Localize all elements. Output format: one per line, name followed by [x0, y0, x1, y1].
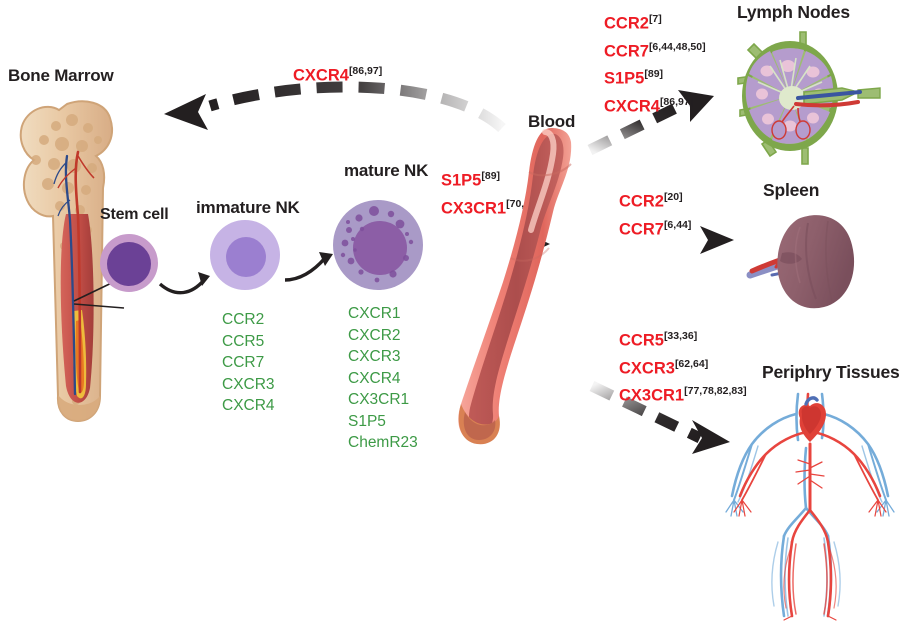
receptor-line: S1P5[89]: [604, 63, 706, 91]
receptor-line: CXCR4[86,97]: [293, 60, 382, 88]
receptor-line: CCR2[20]: [619, 186, 691, 214]
receptor-line: CCR5[33,36]: [619, 325, 747, 353]
label-spleen: Spleen: [763, 180, 819, 201]
receptor-line: CCR7[6,44,48,50]: [604, 36, 706, 64]
receptor-line: CCR2[7]: [604, 8, 706, 36]
receptor-item: CCR2: [222, 309, 275, 331]
receptor-item: CX3CR1: [348, 389, 418, 411]
receptor-refs: [33,36]: [664, 330, 697, 342]
label-periphery-tissues: Periphry Tissues: [762, 362, 900, 383]
stem-cell-illustration: [98, 232, 160, 294]
receptor-item: CXCR1: [348, 303, 418, 325]
receptor-line: CCR7[6,44]: [619, 214, 691, 242]
lymph-node-illustration: [718, 26, 903, 176]
receptor-name: CXCR3: [619, 359, 675, 377]
receptor-item: CCR5: [222, 331, 275, 353]
receptor-item: CXCR4: [222, 395, 275, 417]
label-stem-cell: Stem cell: [100, 206, 168, 224]
label-immature-nk: immature NK: [196, 198, 300, 218]
receptor-refs: [7]: [649, 13, 662, 25]
label-lymph-nodes: Lymph Nodes: [737, 2, 850, 23]
receptor-name: CCR2: [604, 15, 649, 33]
receptor-name: CXCR4: [293, 67, 349, 85]
receptor-list-mature-nk: CXCR1 CXCR2 CXCR3 CXCR4 CX3CR1 S1P5 Chem…: [348, 303, 418, 454]
receptor-name: CX3CR1: [619, 387, 684, 405]
receptor-line: CXCR4[86,97]: [604, 91, 706, 119]
receptor-refs: [62,64]: [675, 358, 708, 370]
mature-nk-illustration: [331, 198, 425, 292]
receptor-group-spleen: CCR2[20] CCR7[6,44]: [619, 186, 691, 241]
receptor-name: CXCR4: [604, 97, 660, 115]
blood-vessel-illustration: [455, 128, 595, 448]
receptor-item: ChemR23: [348, 432, 418, 454]
receptor-refs: [6,44,48,50]: [649, 41, 706, 53]
receptor-item: CCR7: [222, 352, 275, 374]
spleen-illustration: [742, 205, 892, 315]
label-mature-nk: mature NK: [344, 161, 428, 181]
receptor-refs: [86,97]: [349, 65, 382, 77]
receptor-item: CXCR2: [348, 325, 418, 347]
receptor-list-immature-nk: CCR2 CCR5 CCR7 CXCR3 CXCR4: [222, 309, 275, 417]
receptor-refs: [6,44]: [664, 219, 691, 231]
circulatory-system-illustration: [722, 392, 902, 620]
label-bone-marrow: Bone Marrow: [8, 66, 113, 86]
figure-canvas: Bone Marrow CXCR4[86,97] Stem c: [0, 0, 903, 624]
receptor-refs: [89]: [644, 68, 663, 80]
receptor-name: CCR7: [619, 220, 664, 238]
receptor-name: CCR2: [619, 193, 664, 211]
receptor-item: CXCR3: [222, 374, 275, 396]
receptor-group-bone-marrow-return: CXCR4[86,97]: [293, 60, 382, 88]
receptor-item: CXCR4: [348, 368, 418, 390]
receptor-name: CCR7: [604, 42, 649, 60]
receptor-refs: [20]: [664, 191, 683, 203]
label-blood: Blood: [528, 112, 575, 132]
receptor-group-lymph-nodes: CCR2[7] CCR7[6,44,48,50] S1P5[89] CXCR4[…: [604, 8, 706, 118]
immature-nk-illustration: [209, 219, 281, 291]
receptor-name: S1P5: [604, 70, 644, 88]
receptor-item: CXCR3: [348, 346, 418, 368]
receptor-refs: [86,97]: [660, 96, 693, 108]
receptor-line: CXCR3[62,64]: [619, 353, 747, 381]
receptor-item: S1P5: [348, 411, 418, 433]
receptor-name: CCR5: [619, 332, 664, 350]
